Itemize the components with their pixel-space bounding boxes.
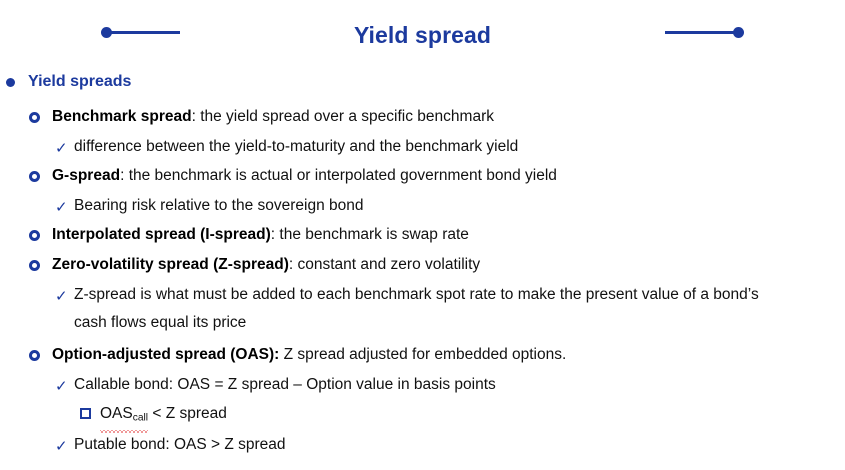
outline-item-oas: Option-adjusted spread (OAS): Z spread a… — [0, 342, 845, 371]
check-bullet-icon: ✓ — [55, 196, 68, 220]
outline-subsubitem-label: OAScall < Z spread — [100, 401, 845, 431]
outline-item-text: G-spread: the benchmark is actual or int… — [52, 163, 845, 189]
disc-bullet-icon — [6, 78, 15, 87]
outline-item-text: Zero-volatility spread (Z-spread): const… — [52, 252, 845, 278]
ring-bullet-icon — [29, 350, 40, 361]
term-separator: : — [120, 167, 129, 184]
misspelled-word: OAScall — [100, 401, 148, 431]
term-description: constant and zero volatility — [297, 256, 480, 273]
left-rule — [108, 31, 180, 34]
outline-item-text: Option-adjusted spread (OAS): Z spread a… — [52, 342, 845, 368]
ring-bullet-icon — [29, 230, 40, 241]
oas-subscript: call — [133, 412, 148, 423]
term-description: the yield spread over a specific benchma… — [200, 108, 494, 125]
outline-subsubitem-oas-call: OAScall < Z spread — [0, 401, 845, 431]
oas-rest-text: < Z spread — [148, 405, 227, 422]
term-label: Interpolated spread (I-spread) — [52, 226, 271, 243]
page-title: Yield spread — [354, 22, 491, 49]
outline-item-i-spread: Interpolated spread (I-spread): the benc… — [0, 222, 845, 251]
square-bullet-icon — [80, 408, 91, 419]
slide-title-row: Yield spread — [0, 14, 845, 56]
check-bullet-icon: ✓ — [55, 137, 68, 161]
right-rule — [665, 31, 737, 34]
outline-subitem: ✓ Z-spread is what must be added to each… — [0, 282, 845, 310]
right-rule-dot-icon — [733, 27, 744, 38]
ring-bullet-icon — [29, 171, 40, 182]
term-label: Zero-volatility spread (Z-spread) — [52, 256, 289, 273]
term-label: Benchmark spread — [52, 108, 192, 125]
outline-level1-label: Yield spreads — [28, 70, 845, 94]
outline-subitem-label: difference between the yield-to-maturity… — [74, 134, 845, 160]
term-description: Z spread adjusted for embedded options. — [284, 346, 567, 363]
outline-subitem-wrapped-line: cash flows equal its price — [0, 310, 845, 338]
outline-item-g-spread: G-spread: the benchmark is actual or int… — [0, 163, 845, 192]
outline-subitem-label: Z-spread is what must be added to each b… — [74, 282, 845, 308]
outline-subitem-callable: ✓ Callable bond: OAS = Z spread – Option… — [0, 372, 845, 400]
outline-subitem-putable: ✓ Putable bond: OAS > Z spread — [0, 432, 845, 460]
term-description: the benchmark is actual or interpolated … — [129, 167, 557, 184]
outline-subitem: ✓ Bearing risk relative to the sovereign… — [0, 193, 845, 221]
outline-subitem: ✓ difference between the yield-to-maturi… — [0, 134, 845, 162]
term-label: G-spread — [52, 167, 120, 184]
term-label: Option-adjusted spread (OAS): — [52, 346, 279, 363]
term-separator: : — [192, 108, 201, 125]
outline-item-text: Interpolated spread (I-spread): the benc… — [52, 222, 845, 248]
outline-item-benchmark-spread: Benchmark spread: the yield spread over … — [0, 104, 845, 133]
term-description: the benchmark is swap rate — [279, 226, 469, 243]
outline-level1-item: Yield spreads — [0, 70, 845, 98]
ring-bullet-icon — [29, 112, 40, 123]
outline-item-z-spread: Zero-volatility spread (Z-spread): const… — [0, 252, 845, 281]
ring-bullet-icon — [29, 260, 40, 271]
check-bullet-icon: ✓ — [55, 435, 68, 459]
outline-subitem-label: Putable bond: OAS > Z spread — [74, 432, 845, 458]
outline-subitem-label: Bearing risk relative to the sovereign b… — [74, 193, 845, 219]
outline-subitem-label: Callable bond: OAS = Z spread – Option v… — [74, 372, 845, 398]
oas-base-text: OAS — [100, 405, 133, 422]
outline-body: Yield spreads Benchmark spread: the yiel… — [0, 70, 845, 461]
left-rule-dot-icon — [101, 27, 112, 38]
check-bullet-icon: ✓ — [55, 375, 68, 399]
check-bullet-icon: ✓ — [55, 285, 68, 309]
outline-item-text: Benchmark spread: the yield spread over … — [52, 104, 845, 130]
